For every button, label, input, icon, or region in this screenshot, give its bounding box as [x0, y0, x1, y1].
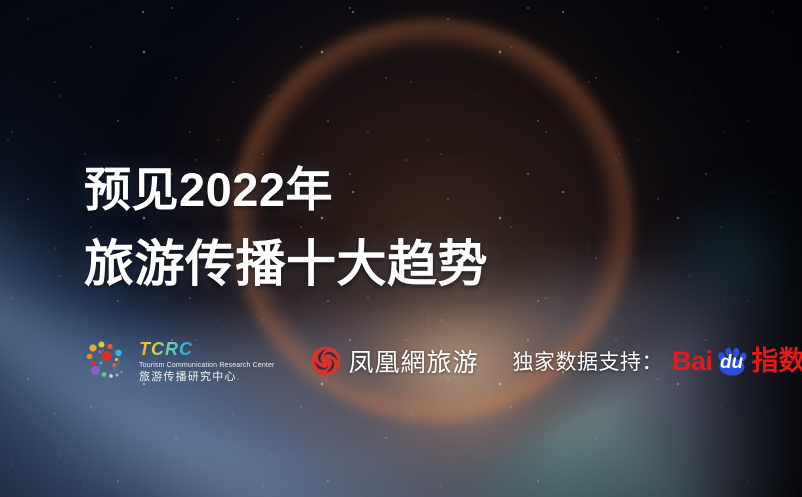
baidu-data-credit: 独家数据支持： Bai du 指数 [513, 346, 802, 376]
baidu-du-text: du [715, 353, 749, 372]
headline-line-1: 预见2022年 [84, 166, 488, 213]
tcrc-logo-lockup[interactable]: TCRC Tourism Communication Research Cent… [80, 336, 275, 386]
tcrc-text-block: TCRC Tourism Communication Research Cent… [139, 340, 275, 383]
baidu-paw-icon: du [715, 346, 749, 376]
baidu-index-suffix: 指数 [752, 348, 802, 375]
phoenix-wordmark: 凤凰網旅游 [349, 343, 479, 379]
tcrc-chinese-name: 旅游传播研究中心 [139, 372, 275, 383]
tcrc-dot-cluster-icon [80, 336, 130, 386]
headline-block: 预见2022年 旅游传播十大趋势 [84, 166, 488, 289]
baidu-bai-text: Bai [672, 348, 713, 375]
baidu-index-logo[interactable]: Bai du 指数 [672, 346, 802, 376]
phoenix-swirl-icon [311, 346, 341, 376]
poster-slide: 预见2022年 旅游传播十大趋势 [0, 0, 802, 497]
tcrc-acronym: TCRC [139, 339, 193, 359]
data-support-label: 独家数据支持： [513, 346, 664, 376]
phoenix-logo-lockup[interactable]: 凤凰網旅游 [311, 343, 479, 379]
tcrc-english-name: Tourism Communication Research Center [139, 362, 275, 369]
headline-line-2: 旅游传播十大趋势 [84, 239, 488, 289]
logo-strip: TCRC Tourism Communication Research Cent… [80, 330, 750, 392]
